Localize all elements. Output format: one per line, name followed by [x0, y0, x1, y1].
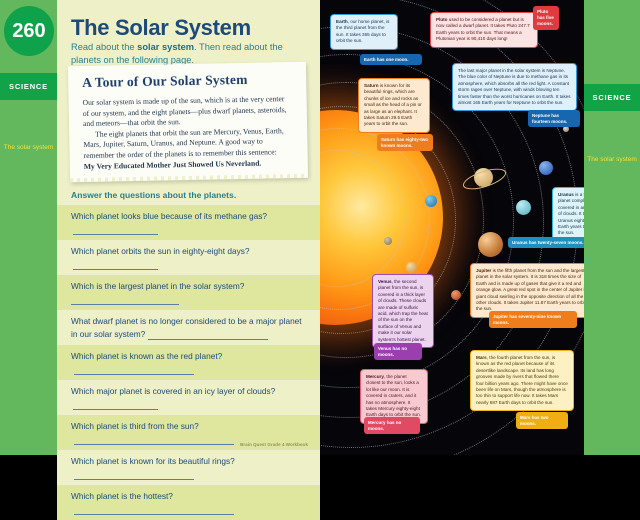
callout-venus: Venus, the second planet from the sun, i…: [372, 274, 434, 348]
callout-earth: Earth, our home planet, is the third pla…: [330, 14, 398, 50]
article-card: A Tour of Our Solar System Our solar sys…: [68, 62, 308, 183]
question-row: Which major planet is covered in an icy …: [57, 380, 320, 415]
callout-neptune-body: The last major planet in the solar syste…: [458, 68, 571, 105]
callout-mercury-lead: Mercury: [366, 374, 384, 379]
question-row: Which is the largest planet in the solar…: [57, 275, 320, 310]
callout-saturn: Saturn is known for its beautiful rings,…: [358, 78, 430, 133]
question-text: Which planet orbits the sun in eighty-ei…: [71, 246, 250, 256]
planet-jupiter: [478, 232, 503, 257]
answer-blank[interactable]: [71, 295, 179, 305]
callout-mars: Mars, the fourth planet from the sun, is…: [470, 350, 574, 411]
article-heading: A Tour of Our Solar System: [82, 71, 306, 91]
answer-blank[interactable]: [74, 365, 194, 375]
subtitle-part-1: Read about the: [71, 42, 137, 52]
right-page: SCIENCE The solar system 261 Earth, our …: [320, 0, 640, 455]
answer-blank[interactable]: [74, 435, 234, 445]
question-row: Which planet orbits the sun in eighty-ei…: [57, 240, 320, 275]
planet-uranus: [516, 200, 531, 215]
left-side-rail: [0, 0, 57, 455]
answer-blank[interactable]: [148, 330, 268, 340]
callout-venus-body: , the second planet from the sun, is cov…: [378, 279, 428, 342]
callout-pluto-lead: Pluto: [436, 17, 447, 22]
question-row: Which planet is known for its beautiful …: [57, 450, 320, 485]
question-row: Which planet is known as the red planet?: [57, 345, 320, 380]
answer-blank[interactable]: [74, 505, 234, 515]
rail-note-right: The solar system: [584, 155, 640, 164]
planet-mercury: [384, 237, 392, 245]
callout-pluto: Pluto used to be considered a planet but…: [430, 12, 538, 48]
callout-mars-body: , the fourth planet from the sun, is kno…: [476, 355, 568, 405]
question-text: Which planet is the hottest?: [71, 491, 173, 501]
workbook-spread: SCIENCE The solar system 260 The Solar S…: [0, 0, 640, 455]
badge-mercury-moons: Mercury has no moons.: [364, 417, 420, 434]
callout-venus-lead: Venus: [378, 279, 392, 284]
callout-pluto-body: used to be considered a planet but is no…: [436, 17, 530, 41]
badge-saturn-moons: Saturn has eighty-two known moons.: [377, 134, 433, 151]
subject-tab-right: SCIENCE: [584, 84, 640, 111]
question-text: Which planet is known as the red planet?: [71, 351, 222, 361]
badge-uranus-moons: Uranus has twenty-seven moons.: [508, 237, 588, 248]
instruction-text: Answer the questions about the planets.: [71, 190, 236, 200]
planet-venus: [406, 262, 417, 273]
article-paragraph-1: Our solar system is made up of the sun, …: [83, 94, 287, 128]
article-paragraph-2: The eight planets that orbit the sun are…: [83, 126, 292, 162]
badge-earth-moons: Earth has one moon.: [360, 54, 422, 65]
right-side-rail: [584, 0, 640, 455]
badge-venus-moons: Venus has no moons.: [374, 343, 422, 360]
planet-mars: [451, 290, 461, 300]
callout-mercury: Mercury, the planet closest to the sun, …: [360, 369, 428, 424]
callout-uranus-lead: Uranus: [558, 192, 574, 197]
question-row: Which planet looks blue because of its m…: [57, 205, 320, 240]
rail-note-left: The solar system: [0, 143, 57, 152]
callout-mars-lead: Mars: [476, 355, 487, 360]
page-footer: Brain Quest Grade 4 Workbook: [240, 442, 308, 447]
question-list: Which planet looks blue because of its m…: [57, 205, 320, 520]
page-title: The Solar System: [71, 15, 251, 41]
question-text: Which major planet is covered in an icy …: [71, 386, 275, 396]
left-page: SCIENCE The solar system 260 The Solar S…: [0, 0, 320, 455]
question-text: Which is the largest planet in the solar…: [71, 281, 244, 291]
question-row: What dwarf planet is no longer considere…: [57, 310, 320, 345]
answer-blank[interactable]: [74, 470, 194, 480]
callout-saturn-body: is known for its beautiful rings, which …: [364, 83, 422, 126]
callout-jupiter-lead: Jupiter: [476, 268, 491, 273]
badge-pluto-moons: Pluto has five moons.: [533, 6, 559, 30]
badge-neptune-moons: Neptune has fourteen moons.: [528, 110, 580, 127]
question-text: Which planet looks blue because of its m…: [71, 211, 267, 221]
question-text: Which planet is known for its beautiful …: [71, 456, 235, 466]
badge-jupiter-moons: Jupiter has seventy-nine known moons.: [489, 311, 577, 328]
subject-tab-left: SCIENCE: [0, 73, 57, 100]
article-body: Our solar system is made up of the sun, …: [83, 94, 292, 172]
question-text: Which planet is third from the sun?: [71, 421, 199, 431]
answer-blank[interactable]: [73, 225, 158, 235]
planet-earth: [425, 195, 437, 207]
page-number-left: 260: [4, 6, 54, 56]
callout-jupiter: Jupiter is the fifth planet from the sun…: [470, 263, 598, 318]
callout-earth-lead: Earth: [336, 19, 348, 24]
callout-mercury-body: , the planet closest to the sun, looks a…: [366, 374, 421, 417]
callout-saturn-lead: Saturn: [364, 83, 379, 88]
planet-neptune: [539, 161, 553, 175]
callout-jupiter-body: is the fifth planet from the sun and the…: [476, 268, 591, 311]
question-row: Which planet is the hottest?: [57, 485, 320, 520]
answer-blank[interactable]: [73, 260, 158, 270]
subtitle-bold-term: solar system: [137, 42, 194, 52]
badge-mars-moons: Mars has two moons.: [516, 412, 568, 429]
answer-blank[interactable]: [73, 400, 158, 410]
callout-neptune: The last major planet in the solar syste…: [452, 63, 577, 111]
